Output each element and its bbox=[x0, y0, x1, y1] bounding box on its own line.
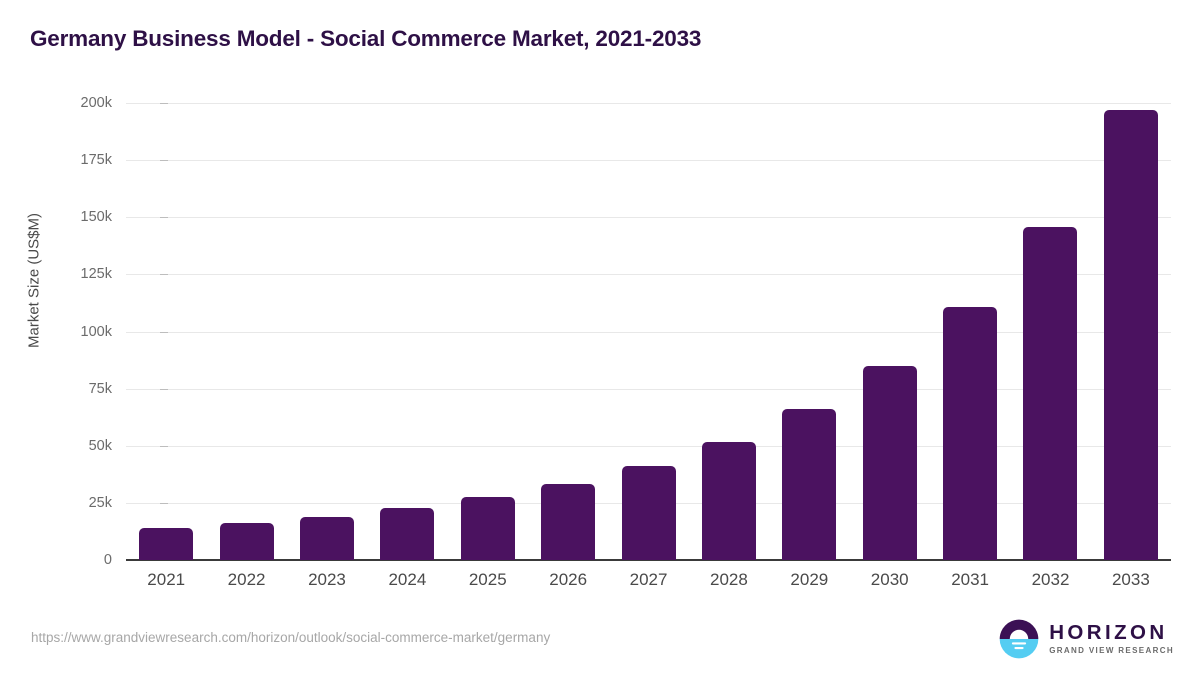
x-axis-tick-label: 2027 bbox=[608, 570, 688, 590]
bar-slot bbox=[126, 103, 206, 560]
bar-slot bbox=[689, 103, 769, 560]
y-axis-tick-label: 0 bbox=[42, 552, 112, 568]
bar-2027[interactable] bbox=[622, 466, 676, 560]
x-axis-tick-label: 2022 bbox=[206, 570, 286, 590]
bar-slot bbox=[287, 103, 367, 560]
bar-slot bbox=[206, 103, 286, 560]
x-axis-tick-labels: 2021202220232024202520262027202820292030… bbox=[126, 570, 1171, 590]
bar-2032[interactable] bbox=[1023, 227, 1077, 560]
horizon-logo-icon bbox=[998, 618, 1040, 660]
y-axis-tick-label: 125k bbox=[42, 266, 112, 282]
bar-2033[interactable] bbox=[1104, 110, 1158, 560]
y-axis-tick-label: 25k bbox=[42, 495, 112, 511]
bar-slot bbox=[1010, 103, 1090, 560]
bar-slot bbox=[1091, 103, 1171, 560]
bar-slot bbox=[367, 103, 447, 560]
bar-2024[interactable] bbox=[380, 508, 434, 560]
bar-2021[interactable] bbox=[139, 528, 193, 560]
x-axis-tick-label: 2023 bbox=[287, 570, 367, 590]
x-axis-tick-label: 2024 bbox=[367, 570, 447, 590]
bar-series bbox=[126, 103, 1171, 560]
logo-tagline: GRAND VIEW RESEARCH bbox=[1049, 647, 1174, 655]
chart-plot: Market Size (US$M) 025k50k75k100k125k150… bbox=[0, 0, 1200, 675]
bar-slot bbox=[528, 103, 608, 560]
y-axis-tick-labels: 025k50k75k100k125k150k175k200k bbox=[42, 103, 112, 560]
bar-2029[interactable] bbox=[782, 409, 836, 560]
x-axis-tick-label: 2032 bbox=[1010, 570, 1090, 590]
x-axis-tick-label: 2026 bbox=[528, 570, 608, 590]
bar-2022[interactable] bbox=[220, 523, 274, 560]
x-axis-tick-label: 2033 bbox=[1091, 570, 1171, 590]
y-axis-tick-label: 100k bbox=[42, 324, 112, 340]
y-axis-tick-label: 200k bbox=[42, 95, 112, 111]
logo-wordmark: HORIZON bbox=[1049, 623, 1174, 644]
bar-slot bbox=[448, 103, 528, 560]
logo-text: HORIZON GRAND VIEW RESEARCH bbox=[1049, 623, 1174, 656]
bar-slot bbox=[850, 103, 930, 560]
x-axis-tick-label: 2021 bbox=[126, 570, 206, 590]
bar-2030[interactable] bbox=[863, 366, 917, 560]
bar-2023[interactable] bbox=[300, 517, 354, 560]
x-axis-tick-label: 2030 bbox=[850, 570, 930, 590]
y-axis-tick-label: 75k bbox=[42, 381, 112, 397]
chart-card: Germany Business Model - Social Commerce… bbox=[0, 0, 1200, 675]
bar-2026[interactable] bbox=[541, 484, 595, 560]
y-axis-tick-label: 50k bbox=[42, 438, 112, 454]
bar-2028[interactable] bbox=[702, 442, 756, 560]
bar-slot bbox=[930, 103, 1010, 560]
bar-2025[interactable] bbox=[461, 497, 515, 560]
bar-slot bbox=[608, 103, 688, 560]
bar-2031[interactable] bbox=[943, 307, 997, 560]
x-axis-tick-label: 2031 bbox=[930, 570, 1010, 590]
y-axis-title: Market Size (US$M) bbox=[26, 151, 43, 411]
x-axis-tick-label: 2029 bbox=[769, 570, 849, 590]
horizon-logo: HORIZON GRAND VIEW RESEARCH bbox=[998, 618, 1174, 660]
y-axis-tick-label: 175k bbox=[42, 152, 112, 168]
x-axis-tick-label: 2028 bbox=[689, 570, 769, 590]
source-url[interactable]: https://www.grandviewresearch.com/horizo… bbox=[31, 630, 550, 645]
y-axis-tick-label: 150k bbox=[42, 209, 112, 225]
x-axis-tick-label: 2025 bbox=[448, 570, 528, 590]
bar-slot bbox=[769, 103, 849, 560]
